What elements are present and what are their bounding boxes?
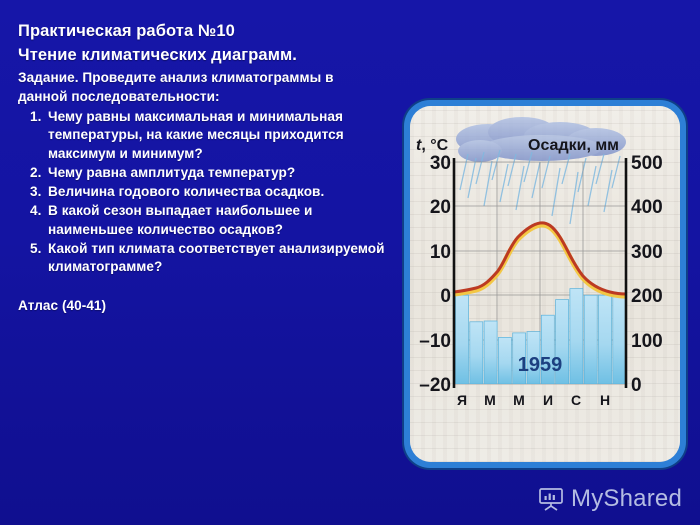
bar-precip-month-2 <box>470 322 483 384</box>
y2tick-400: 400 <box>631 197 663 218</box>
y-axis-temperature-ticks: 30 20 10 0 –10 –20 <box>419 153 451 396</box>
y-axis-precipitation-ticks: 500 400 300 200 100 0 <box>631 153 663 396</box>
bar-precip-month-3 <box>484 321 497 384</box>
list-item: 2. Чему равна амплитуда температур? <box>18 164 396 182</box>
list-item: 3. Величина годового количества осадков. <box>18 183 396 201</box>
list-item: 1. Чему равны максимальная и минимальная… <box>18 108 396 163</box>
xtick-month-3: М <box>484 392 496 408</box>
list-item-number: 1. <box>18 108 48 126</box>
bar-precip-month-12 <box>613 295 626 384</box>
bar-precip-month-1 <box>456 295 469 384</box>
myshared-watermark: MyShared <box>538 485 682 513</box>
ytick-20: 20 <box>430 197 451 218</box>
y2tick-500: 500 <box>631 153 663 174</box>
ytick-0: 0 <box>440 286 451 307</box>
text-panel: Практическая работа №10 Чтение климатиче… <box>18 20 396 313</box>
list-item-text: В какой сезон выпадает наибольшее и наим… <box>48 202 396 239</box>
ytick-m20: –20 <box>419 375 451 396</box>
xtick-month-11: Н <box>600 392 610 408</box>
y2tick-200: 200 <box>631 286 663 307</box>
list-item-number: 2. <box>18 164 48 182</box>
y2tick-300: 300 <box>631 242 663 263</box>
list-item-text: Какой тип климата соответствует анализир… <box>48 240 396 277</box>
y2tick-0: 0 <box>631 375 642 396</box>
task-lead-line-2: данной последовательности: <box>18 88 396 106</box>
task-lead-line-1: Задание. Проведите анализ климатограммы … <box>18 69 396 87</box>
watermark-text: MyShared <box>571 485 682 513</box>
xtick-month-7: И <box>543 392 553 408</box>
climograph-frame: t, °C Осадки, мм 30 20 10 0 –10 –20 500 … <box>404 100 686 468</box>
list-item-number: 5. <box>18 240 48 258</box>
climograph-paper: t, °C Осадки, мм 30 20 10 0 –10 –20 500 … <box>410 106 680 462</box>
list-item-text: Чему равны максимальная и минимальная те… <box>48 108 396 163</box>
bar-precip-month-4 <box>498 337 511 384</box>
atlas-reference: Атлас (40-41) <box>18 298 396 313</box>
y2tick-100: 100 <box>631 331 663 352</box>
page-title: Практическая работа №10 <box>18 20 396 43</box>
presentation-chart-icon <box>538 487 564 511</box>
bar-precip-month-10 <box>584 295 597 384</box>
ytick-10: 10 <box>430 242 451 263</box>
climograph-svg: t, °C Осадки, мм 30 20 10 0 –10 –20 500 … <box>410 106 680 462</box>
list-item: 5. Какой тип климата соответствует анали… <box>18 240 396 277</box>
list-item-number: 3. <box>18 183 48 201</box>
list-item-number: 4. <box>18 202 48 220</box>
ytick-30: 30 <box>430 153 451 174</box>
list-item-text: Чему равна амплитуда температур? <box>48 164 396 182</box>
xtick-month-9: С <box>571 392 581 408</box>
ytick-m10: –10 <box>419 331 451 352</box>
bar-precip-month-11 <box>599 295 612 384</box>
x-axis-month-ticks: Я М М И С Н <box>457 392 610 408</box>
list-item-text: Величина годового количества осадков. <box>48 183 396 201</box>
list-item: 4. В какой сезон выпадает наибольшее и н… <box>18 202 396 239</box>
xtick-month-5: М <box>513 392 525 408</box>
bar-precip-month-9 <box>570 289 583 384</box>
axis-label-temperature: t, °C <box>416 137 449 154</box>
page-subtitle: Чтение климатических диаграмм. <box>18 44 396 67</box>
axis-label-precipitation: Осадки, мм <box>528 137 619 154</box>
xtick-month-1: Я <box>457 392 467 408</box>
year-label: 1959 <box>518 354 563 376</box>
question-list: 1. Чему равны максимальная и минимальная… <box>18 108 396 277</box>
